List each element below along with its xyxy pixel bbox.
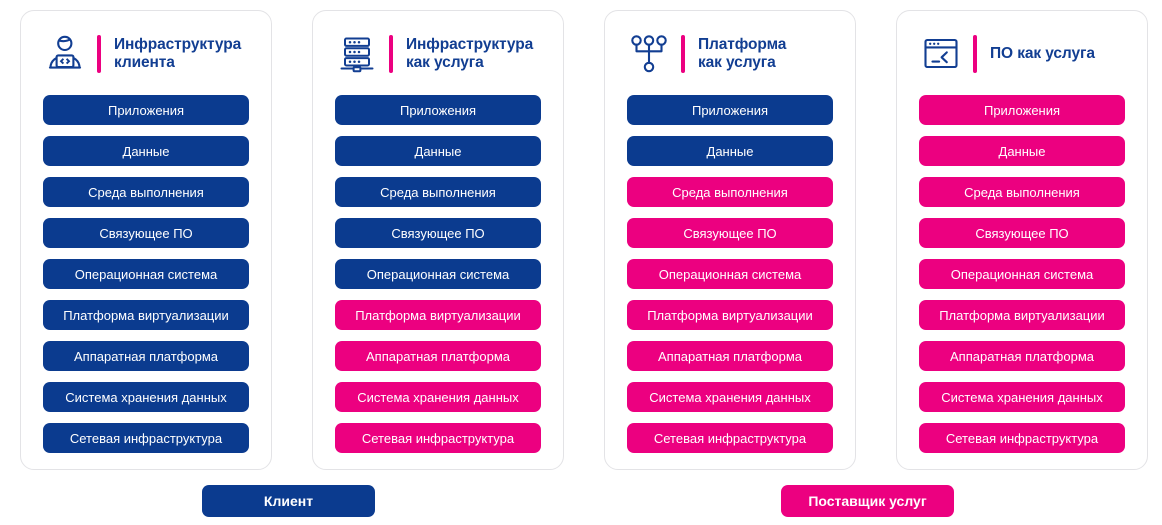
layer-pill[interactable]: Сетевая инфраструктура xyxy=(335,423,541,453)
accent-bar xyxy=(389,35,393,73)
model-card-list: Инфраструктура клиентаПриложенияДанныеСр… xyxy=(0,10,1162,465)
layer-pill[interactable]: Данные xyxy=(335,136,541,166)
layer-pill[interactable]: Операционная система xyxy=(335,259,541,289)
layer-pill[interactable]: Данные xyxy=(43,136,249,166)
card-header: Инфраструктура клиента xyxy=(43,25,249,83)
layer-pill[interactable]: Система хранения данных xyxy=(43,382,249,412)
card-title: Платформа как услуга xyxy=(698,36,786,72)
layer-pill[interactable]: Среда выполнения xyxy=(919,177,1125,207)
cloud-responsibility-matrix: Инфраструктура клиентаПриложенияДанныеСр… xyxy=(0,0,1162,525)
layer-pill[interactable]: Среда выполнения xyxy=(627,177,833,207)
accent-bar xyxy=(97,35,101,73)
model-card-paas: Платформа как услугаПриложенияДанныеСред… xyxy=(604,10,856,470)
layer-pill[interactable]: Система хранения данных xyxy=(919,382,1125,412)
card-header: ПО как услуга xyxy=(919,25,1125,83)
layer-stack: ПриложенияДанныеСреда выполненияСвязующе… xyxy=(919,95,1125,453)
model-card-iaas: Инфраструктура как услугаПриложенияДанны… xyxy=(312,10,564,470)
layer-pill[interactable]: Операционная система xyxy=(627,259,833,289)
legend-client-button[interactable]: Клиент xyxy=(202,485,375,517)
layer-pill[interactable]: Платформа виртуализации xyxy=(43,300,249,330)
network-tree-icon xyxy=(627,32,671,76)
layer-pill[interactable]: Платформа виртуализации xyxy=(335,300,541,330)
card-title: ПО как услуга xyxy=(990,45,1095,63)
layer-pill[interactable]: Сетевая инфраструктура xyxy=(919,423,1125,453)
layer-stack: ПриложенияДанныеСреда выполненияСвязующе… xyxy=(335,95,541,453)
model-card-on-premises: Инфраструктура клиентаПриложенияДанныеСр… xyxy=(20,10,272,470)
layer-pill[interactable]: Аппаратная платформа xyxy=(919,341,1125,371)
layer-pill[interactable]: Связующее ПО xyxy=(43,218,249,248)
layer-pill[interactable]: Аппаратная платформа xyxy=(43,341,249,371)
layer-pill[interactable]: Система хранения данных xyxy=(335,382,541,412)
model-card-saas: ПО как услугаПриложенияДанныеСреда выпол… xyxy=(896,10,1148,470)
layer-pill[interactable]: Приложения xyxy=(43,95,249,125)
layer-pill[interactable]: Связующее ПО xyxy=(627,218,833,248)
code-window-icon xyxy=(919,32,963,76)
layer-pill[interactable]: Данные xyxy=(627,136,833,166)
layer-pill[interactable]: Аппаратная платформа xyxy=(627,341,833,371)
card-title: Инфраструктура как услуга xyxy=(406,36,533,72)
layer-pill[interactable]: Операционная система xyxy=(43,259,249,289)
layer-pill[interactable]: Приложения xyxy=(919,95,1125,125)
server-rack-icon xyxy=(335,32,379,76)
layer-stack: ПриложенияДанныеСреда выполненияСвязующе… xyxy=(627,95,833,453)
user-developer-icon xyxy=(43,32,87,76)
layer-pill[interactable]: Связующее ПО xyxy=(335,218,541,248)
layer-pill[interactable]: Аппаратная платформа xyxy=(335,341,541,371)
layer-pill[interactable]: Операционная система xyxy=(919,259,1125,289)
layer-pill[interactable]: Среда выполнения xyxy=(43,177,249,207)
layer-pill[interactable]: Платформа виртуализации xyxy=(919,300,1125,330)
layer-pill[interactable]: Система хранения данных xyxy=(627,382,833,412)
accent-bar xyxy=(973,35,977,73)
layer-pill[interactable]: Среда выполнения xyxy=(335,177,541,207)
layer-stack: ПриложенияДанныеСреда выполненияСвязующе… xyxy=(43,95,249,453)
layer-pill[interactable]: Сетевая инфраструктура xyxy=(627,423,833,453)
layer-pill[interactable]: Приложения xyxy=(335,95,541,125)
layer-pill[interactable]: Связующее ПО xyxy=(919,218,1125,248)
accent-bar xyxy=(681,35,685,73)
card-title: Инфраструктура клиента xyxy=(114,36,241,72)
card-header: Платформа как услуга xyxy=(627,25,833,83)
layer-pill[interactable]: Платформа виртуализации xyxy=(627,300,833,330)
legend-row: Клиент Поставщик услуг xyxy=(0,485,1162,517)
layer-pill[interactable]: Данные xyxy=(919,136,1125,166)
legend-provider-button[interactable]: Поставщик услуг xyxy=(781,485,954,517)
card-header: Инфраструктура как услуга xyxy=(335,25,541,83)
layer-pill[interactable]: Приложения xyxy=(627,95,833,125)
layer-pill[interactable]: Сетевая инфраструктура xyxy=(43,423,249,453)
